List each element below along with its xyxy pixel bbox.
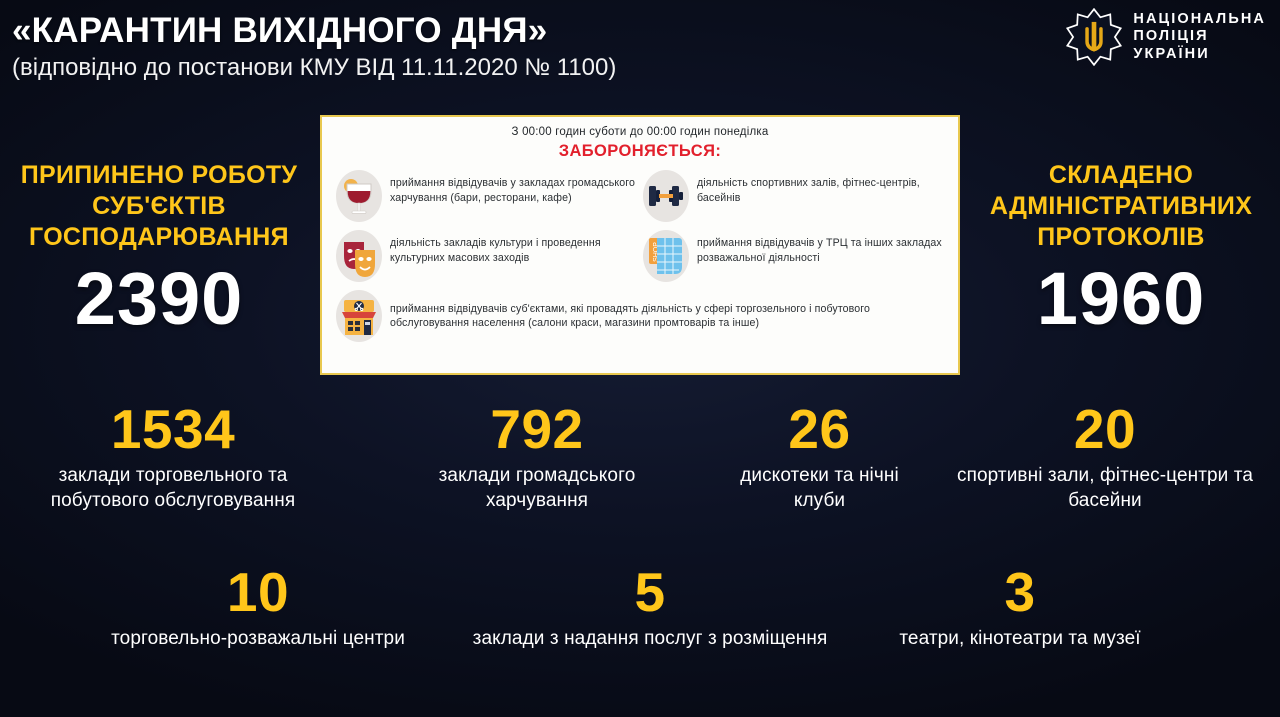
stat-malls: 10 торговельно-розважальні центри (58, 563, 458, 651)
restrictions-card: З 00:00 годин суботи до 00:00 годин поне… (320, 115, 960, 375)
theatre-masks-icon (336, 230, 382, 282)
header: «КАРАНТИН ВИХІДНОГО ДНЯ» (відповідно до … (0, 0, 1280, 100)
restriction-text: діяльність закладів культури і проведенн… (390, 230, 637, 265)
stat-retail-services: 1534 заклади торговельного та побутового… (8, 400, 338, 513)
summary-right-value: 1960 (956, 261, 1280, 337)
stat-gyms: 20 спортивні зали, фітнес-центри та басе… (940, 400, 1270, 513)
summary-suspended-businesses: ПРИПИНЕНО РОБОТУ СУБ'ЄКТІВ ГОСПОДАРЮВАНН… (0, 160, 324, 337)
stat-label: торговельно-розважальні центри (58, 626, 458, 651)
stat-label: дискотеки та нічні клуби (712, 463, 927, 513)
police-logo: Національна Поліція України (1065, 8, 1266, 66)
stat-value: 20 (940, 400, 1270, 458)
logo-line-3: України (1133, 46, 1266, 64)
stat-theatres: 3 театри, кінотеатри та музеї (820, 563, 1220, 651)
stat-accommodation: 5 заклади з надання послуг з розміщення (450, 563, 850, 651)
restriction-item-culture: діяльність закладів культури і проведенн… (336, 230, 637, 282)
logo-text: Національна Поліція України (1133, 11, 1266, 64)
summary-admin-protocols: СКЛАДЕНО АДМІНІСТРАТИВНИХ ПРОТОКОЛІВ 196… (956, 160, 1280, 337)
stat-value: 10 (58, 563, 458, 621)
stat-value: 1534 (8, 400, 338, 458)
restriction-item-catering: приймання відвідувачів у закладах громад… (336, 170, 637, 222)
stat-value: 792 (392, 400, 682, 458)
stat-label: заклади з надання послуг з розміщення (450, 626, 850, 651)
page-subtitle: (відповідно до постанови КМУ ВІД 11.11.2… (12, 53, 616, 83)
restriction-text: діяльність спортивних залів, фітнес-цент… (697, 170, 944, 205)
page-title: «КАРАНТИН ВИХІДНОГО ДНЯ» (12, 10, 616, 52)
restriction-text: приймання відвідувачів у закладах громад… (390, 170, 637, 205)
summary-left-heading: ПРИПИНЕНО РОБОТУ СУБ'ЄКТІВ ГОСПОДАРЮВАНН… (0, 160, 324, 253)
stat-label: заклади торговельного та побутового обсл… (8, 463, 338, 513)
card-forbidden-heading: ЗАБОРОНЯЄТЬСЯ: (336, 141, 944, 161)
beauty-salon-shop-icon (336, 290, 382, 342)
police-star-badge-icon (1065, 8, 1123, 66)
title-block: «КАРАНТИН ВИХІДНОГО ДНЯ» (відповідно до … (12, 10, 616, 83)
wine-glass-icon (336, 170, 382, 222)
stat-value: 26 (712, 400, 927, 458)
stat-value: 5 (450, 563, 850, 621)
stat-label: театри, кінотеатри та музеї (820, 626, 1220, 651)
restriction-item-gyms: діяльність спортивних залів, фітнес-цент… (643, 170, 944, 222)
shopping-mall-icon: SHOP (643, 230, 689, 282)
restriction-item-malls: SHOP приймання відвідувачів у ТРЦ та інш… (643, 230, 944, 282)
stat-value: 3 (820, 563, 1220, 621)
restriction-text: приймання відвідувачів у ТРЦ та інших за… (697, 230, 944, 265)
infographic-page: «КАРАНТИН ВИХІДНОГО ДНЯ» (відповідно до … (0, 0, 1280, 717)
stat-nightclubs: 26 дискотеки та нічні клуби (712, 400, 927, 513)
restrictions-list: приймання відвідувачів у закладах громад… (336, 170, 944, 342)
stat-label: заклади громадського харчування (392, 463, 682, 513)
logo-line-2: Поліція (1133, 28, 1266, 46)
summary-left-value: 2390 (0, 261, 324, 337)
card-time-range: З 00:00 годин суботи до 00:00 годин поне… (336, 125, 944, 140)
summary-right-heading: СКЛАДЕНО АДМІНІСТРАТИВНИХ ПРОТОКОЛІВ (956, 160, 1280, 253)
restriction-item-retail-services: приймання відвідувачів суб'єктами, які п… (336, 290, 944, 342)
restriction-text: приймання відвідувачів суб'єктами, які п… (390, 302, 944, 331)
logo-line-1: Національна (1133, 11, 1266, 29)
stat-label: спортивні зали, фітнес-центри та басейни (940, 463, 1270, 513)
dumbbell-icon (643, 170, 689, 222)
stat-catering: 792 заклади громадського харчування (392, 400, 682, 513)
